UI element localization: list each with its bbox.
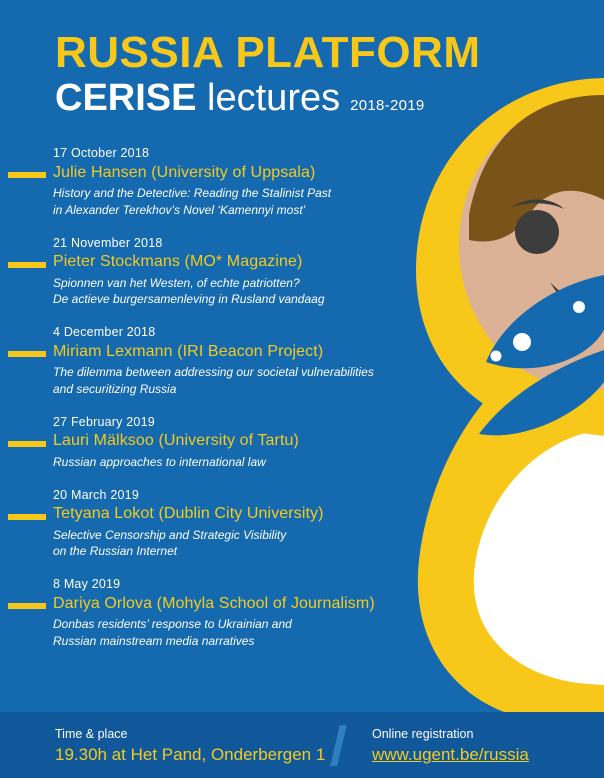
time-and-place-value: 19.30h at Het Pand, Onderbergen 1 [55,744,325,765]
lecture-list: 17 October 2018 Julie Hansen (University… [0,146,420,667]
lecture-topic-line: on the Russian Internet [53,543,420,560]
lecture-topic-line: History and the Detective: Reading the S… [53,185,420,202]
lecture-topic-line: De actieve burgersamenleving in Rusland … [53,291,420,308]
lecture-topic-line: Selective Censorship and Strategic Visib… [53,527,420,544]
poster-canvas: RUSSIA PLATFORM CERISE lectures 2018-201… [0,0,604,778]
lecture-topic-line: and securitizing Russia [53,381,420,398]
time-and-place-block: Time & place 19.30h at Het Pand, Onderbe… [55,726,325,766]
accent-bar [8,172,46,178]
lecture-topic-line: Donbas residents’ response to Ukrainian … [53,616,420,633]
doll-petal-lower [479,350,604,435]
doll-face-shape [459,100,604,390]
poster-header: RUSSIA PLATFORM CERISE lectures 2018-201… [55,30,480,118]
registration-label: Online registration [372,726,529,742]
accent-bar [8,603,46,609]
lecture-item: 20 March 2019 Tetyana Lokot (Dublin City… [0,488,420,561]
doll-petal-decoration-group [479,275,604,435]
lecture-speaker: Dariya Orlova (Mohyla School of Journali… [53,594,420,615]
doll-petal-dot [491,351,502,362]
page-title: RUSSIA PLATFORM [55,30,480,76]
lecture-date: 21 November 2018 [53,236,420,252]
lecture-topic-line: Spionnen van het Westen, of echte patrio… [53,275,420,292]
accent-bar [8,262,46,268]
lecture-speaker: Pieter Stockmans (MO* Magazine) [53,252,420,273]
lecture-item: 21 November 2018 Pieter Stockmans (MO* M… [0,236,420,309]
doll-face-group [459,95,604,390]
lecture-topic-line: Russian approaches to international law [53,454,420,471]
registration-url-link[interactable]: www.ugent.be/russia [372,744,529,765]
doll-eyebrow-shape [511,199,564,209]
poster-footer: Time & place 19.30h at Het Pand, Onderbe… [0,712,604,778]
lecture-date: 8 May 2019 [53,577,420,593]
lecture-speaker: Julie Hansen (University of Uppsala) [53,163,420,184]
lecture-speaker: Tetyana Lokot (Dublin City University) [53,504,420,525]
doll-petal-dot [513,333,531,351]
subtitle-light: lectures [207,77,340,119]
doll-petal-dot [573,301,585,313]
accent-bar [8,514,46,520]
lecture-item: 8 May 2019 Dariya Orlova (Mohyla School … [0,577,420,650]
lecture-topic-line: Russian mainstream media narratives [53,633,420,650]
doll-headscarf-shape [416,78,604,436]
time-and-place-label: Time & place [55,726,325,742]
academic-year-label: 2018-2019 [350,97,424,114]
lecture-item: 27 February 2019 Lauri Mälksoo (Universi… [0,415,420,471]
subtitle: CERISE lectures [55,78,340,118]
accent-bar [8,441,46,447]
lecture-item: 17 October 2018 Julie Hansen (University… [0,146,420,219]
subtitle-row: CERISE lectures 2018-2019 [55,78,480,118]
doll-smile-shape [550,282,604,311]
lecture-topic-line: in Alexander Terekhov’s Novel ‘Kamennyi … [53,202,420,219]
lecture-date: 17 October 2018 [53,146,420,162]
doll-petal-upper [486,275,604,368]
lecture-topic-line: The dilemma between addressing our socie… [53,364,420,381]
lecture-item: 4 December 2018 Miriam Lexmann (IRI Beac… [0,325,420,398]
lecture-date: 27 February 2019 [53,415,420,431]
slash-divider-icon [330,725,346,766]
doll-hair-shape [469,95,604,242]
subtitle-bold: CERISE [55,77,196,119]
accent-bar [8,351,46,357]
lecture-date: 20 March 2019 [53,488,420,504]
lecture-speaker: Lauri Mälksoo (University of Tartu) [53,431,420,452]
doll-body-shape [418,330,604,726]
lecture-date: 4 December 2018 [53,325,420,341]
registration-block: Online registration www.ugent.be/russia [372,726,529,766]
doll-eye-shape [515,210,559,254]
doll-apron-shape [474,430,604,685]
lecture-speaker: Miriam Lexmann (IRI Beacon Project) [53,342,420,363]
